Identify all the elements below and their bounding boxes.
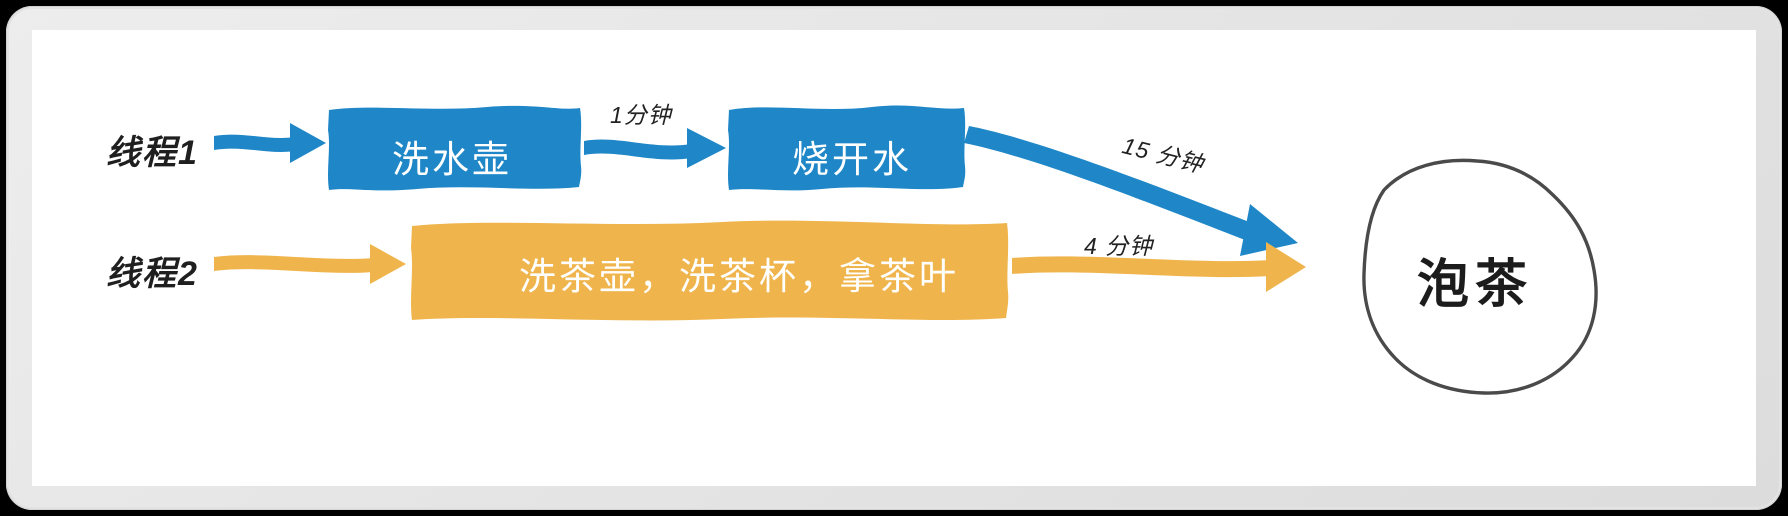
- thread-2-label: 线程2: [106, 246, 199, 295]
- node-boil-water-label: 烧开水: [792, 129, 912, 183]
- edge-label-wash-to-boil: 1分钟: [610, 96, 672, 130]
- edge-label-prep-to-goal: 4 分钟: [1084, 227, 1153, 261]
- screenshot-root: 线程1 线程2 洗水壶 烧开水 洗茶壶，洗茶杯，拿茶叶 1分钟 15 分钟 4 …: [0, 0, 1788, 516]
- goal-label: 泡茶: [1417, 242, 1533, 317]
- node-prep-tea-label: 洗茶壶，洗茶杯，拿茶叶: [519, 246, 959, 300]
- edge-start-thread2: [214, 244, 406, 284]
- edge-start-thread1: [214, 123, 326, 163]
- edge-wash-to-boil: [584, 128, 726, 168]
- thread-1-label: 线程1: [106, 125, 199, 174]
- diagram-canvas: 线程1 线程2 洗水壶 烧开水 洗茶壶，洗茶杯，拿茶叶 1分钟 15 分钟 4 …: [32, 30, 1756, 486]
- node-wash-kettle-label: 洗水壶: [392, 129, 512, 183]
